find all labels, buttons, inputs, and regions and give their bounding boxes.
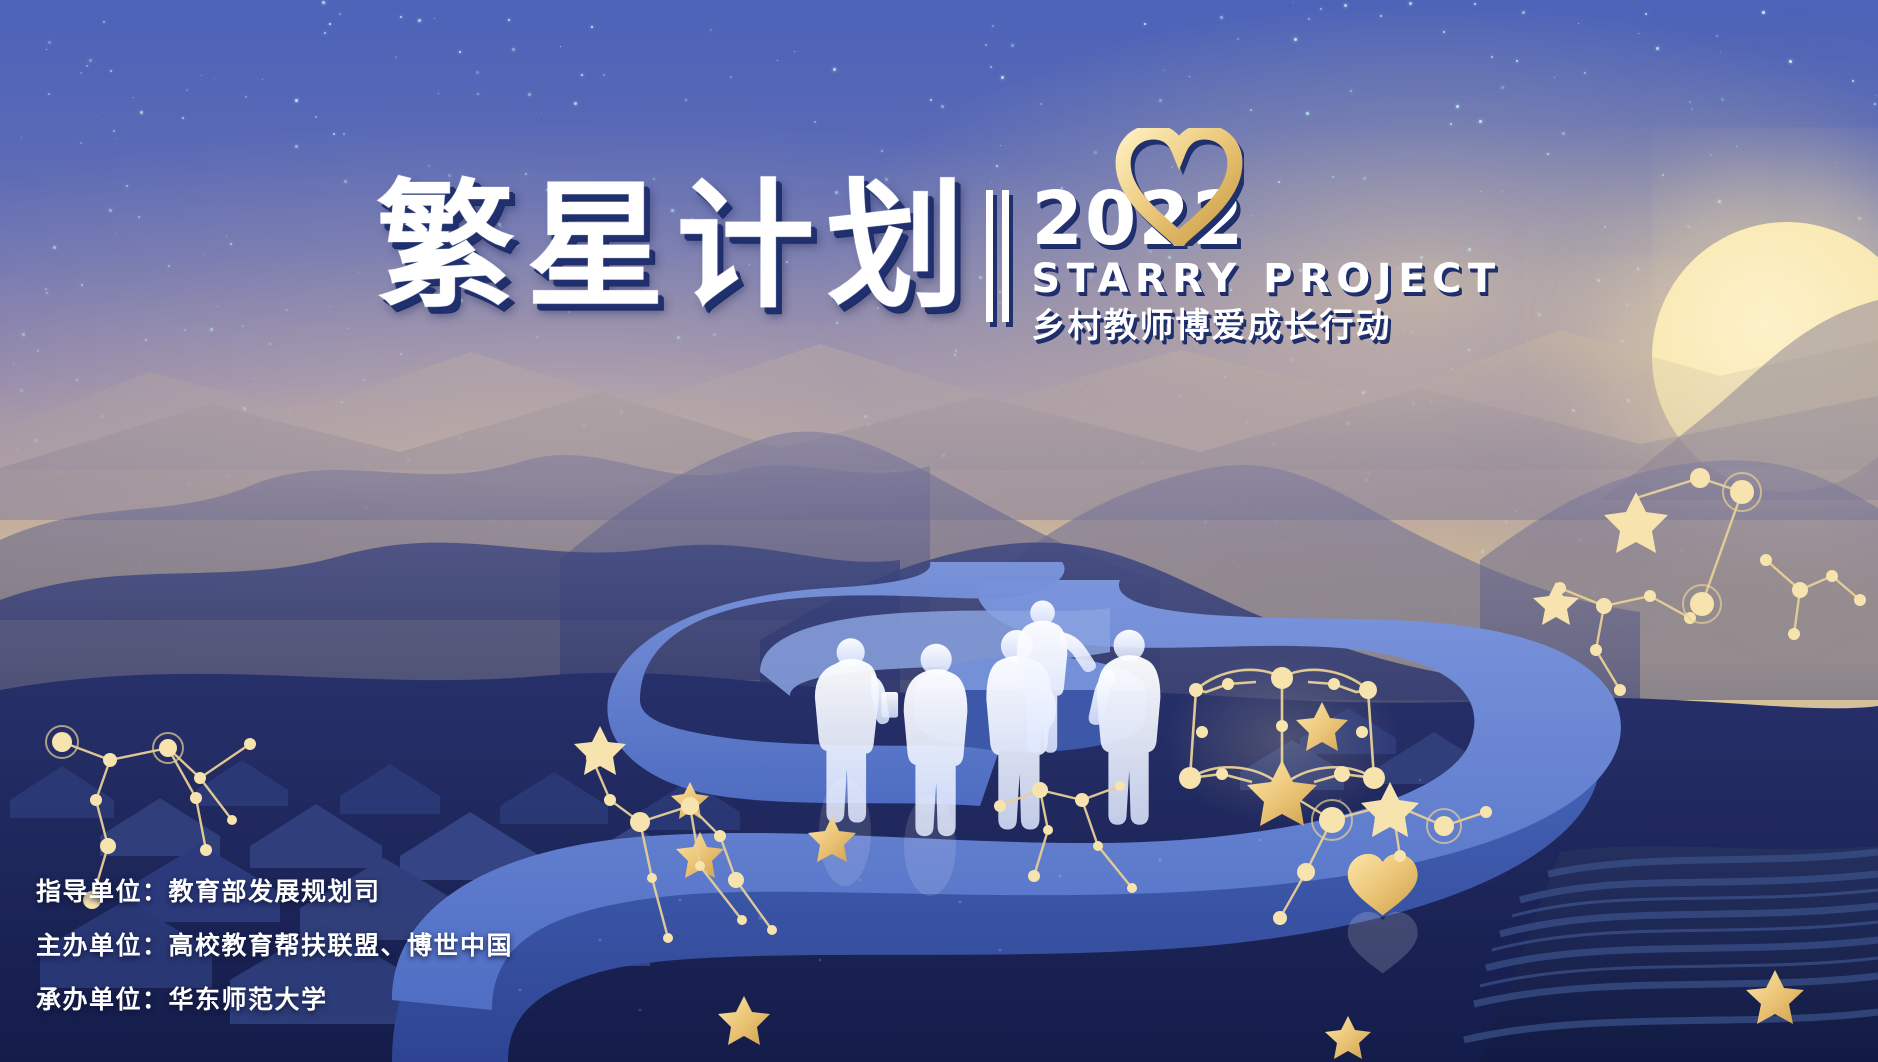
credits-block: 指导单位：教育部发展规划司 主办单位：高校教育帮扶联盟、博世中国 承办单位：华东… xyxy=(36,872,513,1016)
credit-line-host: 承办单位：华东师范大学 xyxy=(36,980,513,1016)
page-title: 繁星计划 xyxy=(376,178,976,316)
title-en: STARRY PROJECT xyxy=(1031,256,1501,302)
subtitle-cn: 乡村教师博爱成长行动 xyxy=(1031,306,1501,347)
heart-outline-icon xyxy=(1114,128,1244,246)
year-label: 2022 xyxy=(1031,184,1501,254)
title-block: 繁星计划 2022 STARRY PROJECT 乡村教师博爱成长行动 xyxy=(0,178,1878,347)
title-divider xyxy=(986,190,1009,322)
credit-line-guidance: 指导单位：教育部发展规划司 xyxy=(36,872,513,908)
poster-canvas: 繁星计划 2022 STARRY PROJECT 乡村教师博爱成长行动 xyxy=(0,0,1878,1062)
credit-line-organizer: 主办单位：高校教育帮扶联盟、博世中国 xyxy=(36,926,513,962)
title-right-block: 2022 STARRY PROJECT 乡村教师博爱成长行动 xyxy=(1031,184,1501,347)
